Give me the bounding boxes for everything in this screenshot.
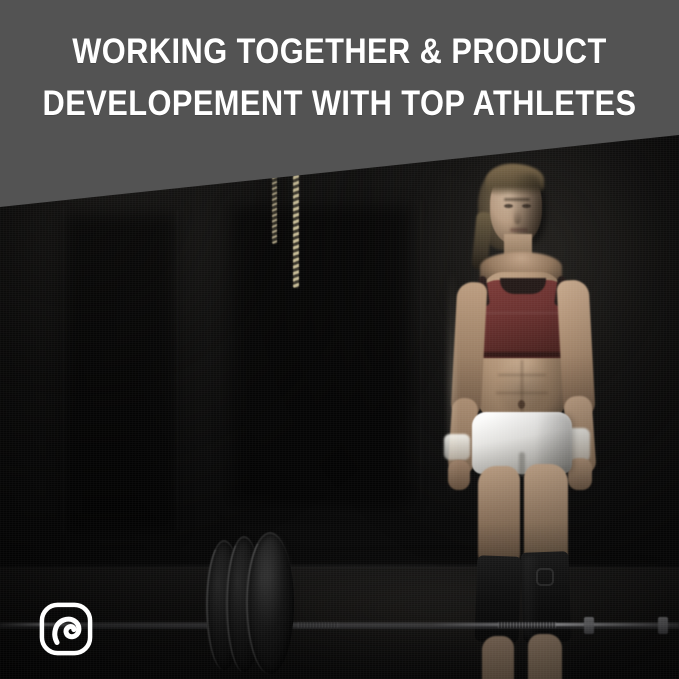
ab-line-2 xyxy=(496,392,548,394)
barbell-knurling-center xyxy=(298,622,338,628)
wall-panel-dark-center xyxy=(230,206,410,506)
wall-panel-dark-left xyxy=(64,214,176,532)
rim-light xyxy=(448,270,456,500)
climbing-rope-right xyxy=(293,170,299,288)
barbell-collar-1 xyxy=(584,617,594,634)
calf-left xyxy=(482,636,514,679)
climbing-rope-left xyxy=(272,172,277,244)
wall-seam-2 xyxy=(176,210,179,530)
calf-right xyxy=(528,634,562,679)
eye-left xyxy=(504,204,513,208)
headline-line-1: WORKING TOGETHER & PRODUCT xyxy=(41,26,639,78)
athlete-figure xyxy=(418,160,628,679)
barbell-collar-2 xyxy=(658,617,668,634)
wall-seam-1 xyxy=(62,205,65,535)
headline-text-block: WORKING TOGETHER & PRODUCT DEVELOPEMENT … xyxy=(0,26,679,130)
barbell-knurling-right xyxy=(498,622,556,628)
sports-bra-neckline xyxy=(500,278,546,294)
sports-bra-seam xyxy=(478,312,568,314)
weight-plate-face-highlight xyxy=(252,534,296,672)
knee-sleeve-left xyxy=(475,555,522,642)
knee-sleeve-logo-icon xyxy=(536,568,554,586)
ab-line-1 xyxy=(498,374,546,376)
product-banner-image: WORKING TOGETHER & PRODUCT DEVELOPEMENT … xyxy=(0,0,679,679)
navel xyxy=(518,400,525,409)
sports-bra-hem xyxy=(476,352,570,357)
thigh-left xyxy=(478,466,520,564)
headline-line-2: DEVELOPEMENT WITH TOP ATHLETES xyxy=(41,78,639,130)
thigh-right xyxy=(524,464,568,564)
rehband-wave-logo-icon xyxy=(38,601,94,657)
